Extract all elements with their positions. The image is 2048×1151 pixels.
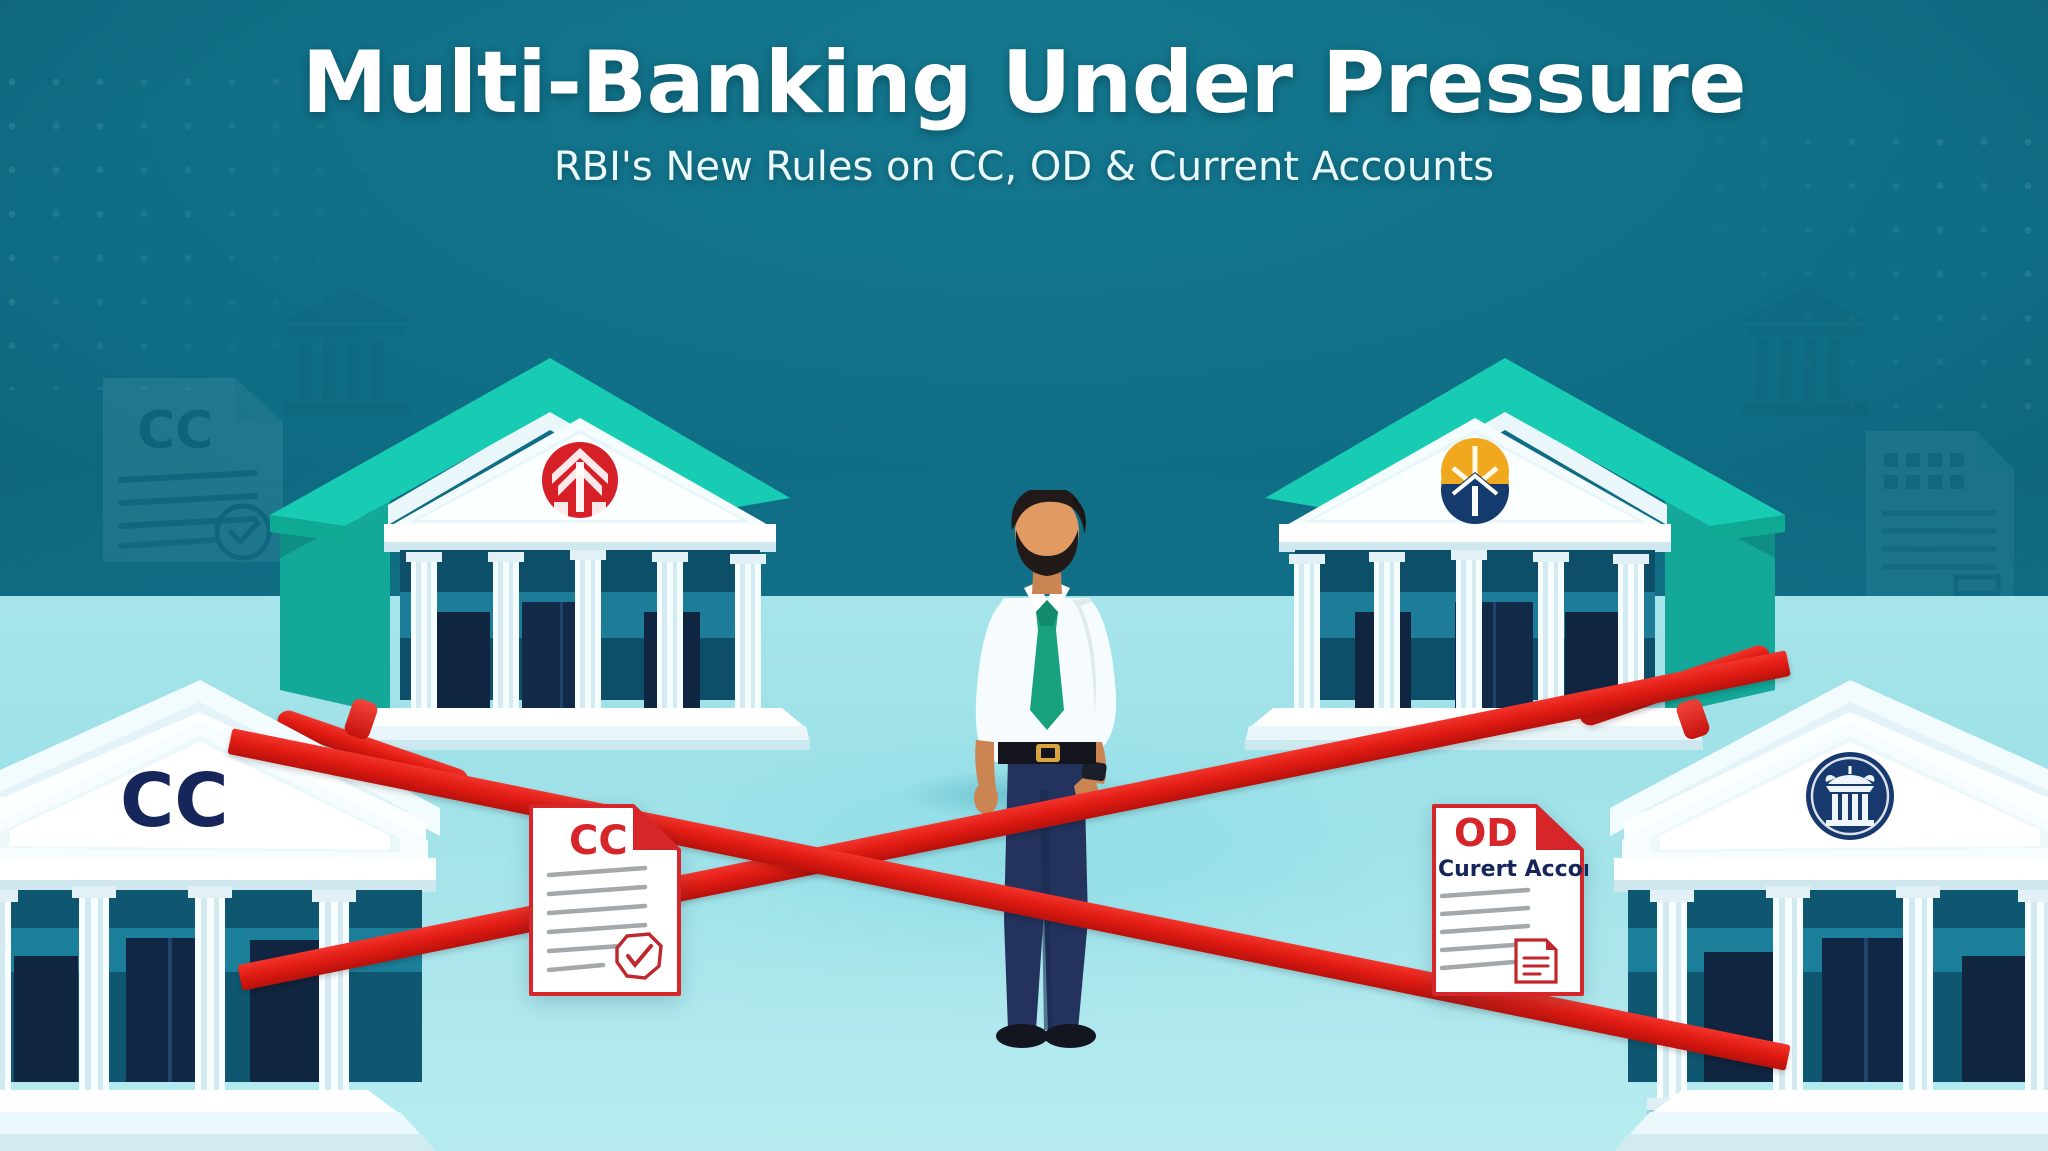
illustration-canvas: CC [0,0,2048,1151]
document-cc: CC [525,800,685,1000]
document-od-heading: OD [1454,811,1518,855]
document-cc-heading: CC [569,818,628,864]
document-od: OD Curert Accont [1428,800,1588,1000]
title-block: Multi-Banking Under Pressure RBI's New R… [0,38,2048,190]
page-title: Multi-Banking Under Pressure [0,38,2048,128]
page-subtitle: RBI's New Rules on CC, OD & Current Acco… [0,144,2048,190]
document-cc-verified-seal [617,934,661,978]
document-od-seal [1516,940,1556,982]
document-od-subheading: Curert Accont [1438,857,1588,882]
